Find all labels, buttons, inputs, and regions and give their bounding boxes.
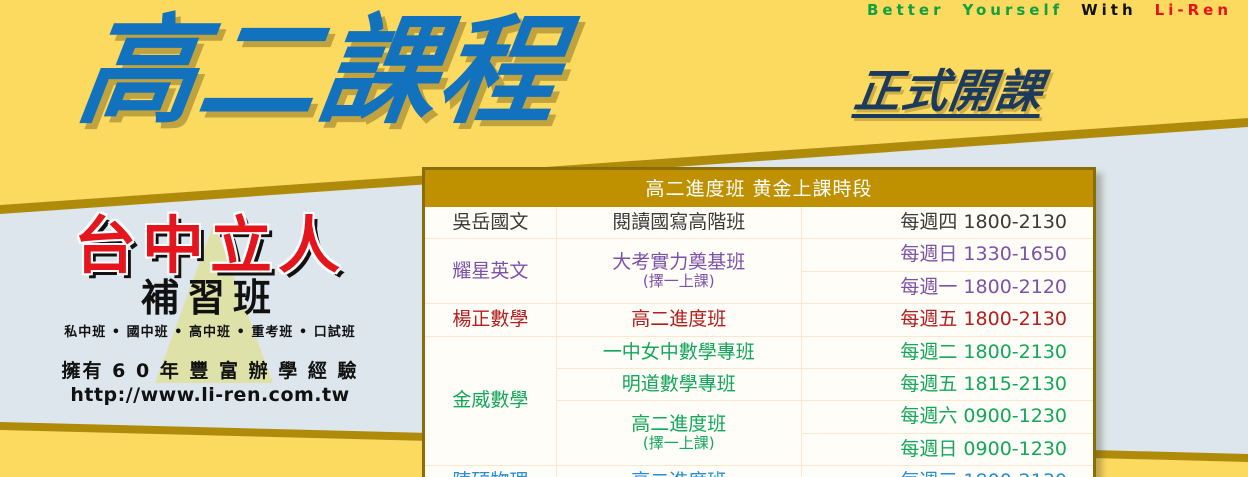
table-row: 吳岳國文閱讀國寫高階班每週四 1800-2130 xyxy=(425,207,1093,239)
cell-time: 每週二 1800-2130 xyxy=(801,336,1093,368)
cell-time: 每週三 1800-2130 xyxy=(801,466,1093,477)
cell-course: 一中女中數學專班 xyxy=(556,336,801,368)
cell-course: 高二進度班 xyxy=(556,304,801,336)
logo-brand-type: 補習班 xyxy=(30,279,390,317)
logo-class-list: 私中班 • 國中班 • 高中班 • 重考班 • 口試班 xyxy=(30,321,390,340)
cell-time: 每週日 0900-1230 xyxy=(801,433,1093,465)
page-title: 高二課程 xyxy=(72,12,569,130)
brand-logo: 台中立人 補習班 私中班 • 國中班 • 高中班 • 重考班 • 口試班 擁有 … xyxy=(30,215,390,406)
slogan-word-liren: Li-Ren xyxy=(1155,1,1232,19)
table-row: 金威數學一中女中數學專班每週二 1800-2130 xyxy=(425,336,1093,368)
cell-time: 每週四 1800-2130 xyxy=(801,207,1093,239)
table-row: 楊正數學高二進度班每週五 1800-2130 xyxy=(425,304,1093,336)
cell-teacher: 吳岳國文 xyxy=(425,207,556,239)
schedule-table: 高二進度班 黄金上課時段 吳岳國文閱讀國寫高階班每週四 1800-2130耀星英… xyxy=(425,170,1093,477)
logo-website-url[interactable]: http://www.li-ren.com.tw xyxy=(30,384,390,406)
logo-experience-text: 擁有 6 0 年 豐 富 辦 學 經 驗 xyxy=(30,356,390,383)
cell-time: 每週六 0900-1230 xyxy=(801,401,1093,433)
cell-teacher: 陳碩物理 xyxy=(425,466,556,477)
table-row: 耀星英文大考實力奠基班(擇一上課)每週日 1330-1650 xyxy=(425,239,1093,271)
schedule-table-body: 吳岳國文閱讀國寫高階班每週四 1800-2130耀星英文大考實力奠基班(擇一上課… xyxy=(425,207,1093,477)
slogan-word-yourself: Yourself xyxy=(962,1,1063,19)
cell-course: 閱讀國寫高階班 xyxy=(556,207,801,239)
cell-teacher: 耀星英文 xyxy=(425,239,556,304)
table-header-row: 高二進度班 黄金上課時段 xyxy=(425,170,1093,207)
cell-teacher: 楊正數學 xyxy=(425,304,556,336)
poster-canvas: BetterYourselfWithLi-Ren 高二課程 正式開課 台中立人 … xyxy=(0,0,1248,477)
slogan-word-with: With xyxy=(1081,1,1137,19)
cell-time: 每週五 1800-2130 xyxy=(801,304,1093,336)
cell-teacher: 金威數學 xyxy=(425,336,556,466)
table-row: 陳碩物理高二進度班每週三 1800-2130 xyxy=(425,466,1093,477)
cell-course: 高二進度班 xyxy=(556,466,801,477)
cell-course: 高二進度班(擇一上課) xyxy=(556,401,801,466)
schedule-table-container: 高二進度班 黄金上課時段 吳岳國文閱讀國寫高階班每週四 1800-2130耀星英… xyxy=(422,167,1096,477)
cell-time: 每週一 1800-2120 xyxy=(801,271,1093,303)
slogan-word-better: Better xyxy=(867,1,945,19)
logo-brand-name: 台中立人 xyxy=(30,215,390,277)
page-subtitle: 正式開課 xyxy=(852,68,1046,114)
cell-course: 大考實力奠基班(擇一上課) xyxy=(556,239,801,304)
schedule-header-title: 高二進度班 黄金上課時段 xyxy=(425,170,1093,207)
cell-time: 每週五 1815-2130 xyxy=(801,369,1093,401)
cell-time: 每週日 1330-1650 xyxy=(801,239,1093,271)
slogan: BetterYourselfWithLi-Ren xyxy=(867,1,1232,19)
cell-course: 明道數學專班 xyxy=(556,369,801,401)
